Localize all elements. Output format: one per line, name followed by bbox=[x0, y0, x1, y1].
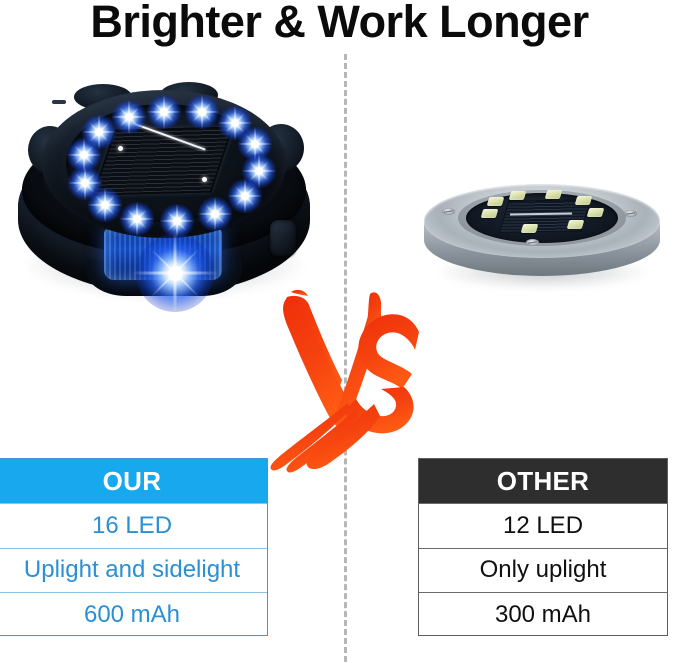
led-unlit bbox=[587, 208, 605, 217]
led-unlit bbox=[481, 209, 499, 218]
table-header-our: OUR bbox=[0, 459, 267, 503]
solar-panel-highlight-dot bbox=[118, 146, 123, 151]
table-row: Only uplight bbox=[419, 548, 667, 593]
table-row: 300 mAh bbox=[419, 592, 667, 637]
comparison-table-our: OUR 16 LED Uplight and sidelight 600 mAh bbox=[0, 458, 268, 636]
table-row: 16 LED bbox=[0, 503, 267, 548]
led-unlit bbox=[575, 196, 593, 205]
led-blue bbox=[120, 202, 154, 236]
solar-panel-highlight-dot bbox=[202, 177, 207, 182]
vs-brush-graphic bbox=[262, 288, 427, 488]
led-blue bbox=[185, 95, 219, 129]
screw-head bbox=[526, 239, 539, 246]
led-blue bbox=[160, 204, 194, 238]
comparison-table-other: OTHER 12 LED Only uplight 300 mAh bbox=[418, 458, 668, 636]
page-title: Brighter & Work Longer bbox=[0, 0, 679, 48]
led-blue bbox=[228, 179, 262, 213]
housing-clip bbox=[52, 100, 66, 104]
screw-head bbox=[624, 210, 637, 217]
led-blue bbox=[198, 197, 232, 231]
led-unlit bbox=[567, 220, 585, 229]
table-header-other: OTHER bbox=[419, 459, 667, 503]
product-image-our bbox=[12, 82, 317, 307]
led-unlit bbox=[521, 224, 539, 233]
led-blue bbox=[147, 95, 181, 129]
led-unlit bbox=[545, 190, 563, 199]
product-comparison-image: Brighter & Work Longer bbox=[0, 0, 679, 663]
led-blue bbox=[82, 115, 116, 149]
led-sidelight-flare bbox=[136, 234, 214, 312]
table-row: Uplight and sidelight bbox=[0, 548, 267, 593]
power-button bbox=[270, 220, 296, 256]
screw-head bbox=[442, 208, 455, 215]
led-unlit bbox=[509, 191, 527, 200]
product-image-other bbox=[418, 176, 666, 298]
led-blue bbox=[112, 100, 146, 134]
table-row: 12 LED bbox=[419, 503, 667, 548]
table-row: 600 mAh bbox=[0, 592, 267, 637]
led-unlit bbox=[487, 197, 505, 206]
